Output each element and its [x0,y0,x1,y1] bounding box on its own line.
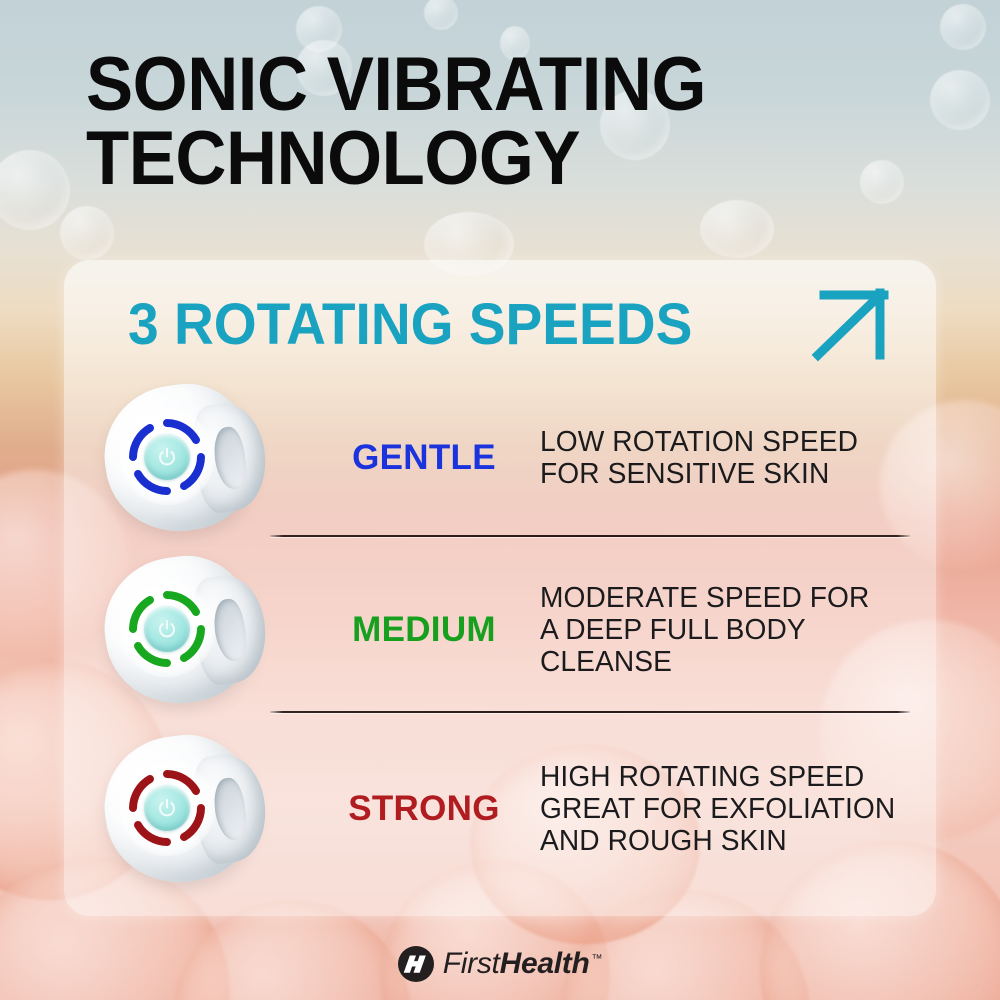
power-icon [156,618,178,640]
led-ring-assembly [119,760,215,856]
arrow-up-right-icon [804,285,892,363]
speed-description-medium: MODERATE SPEED FOR A DEEP FULL BODY CLEA… [540,582,924,678]
power-icon [156,797,178,819]
led-ring-assembly [119,409,215,505]
speed-row: STRONG HIGH ROTATING SPEED GREAT FOR EXF… [64,724,936,894]
speed-label-strong: STRONG [308,789,540,829]
speed-label-gentle: GENTLE [308,438,540,478]
power-button[interactable] [144,785,190,831]
speed-description-strong: HIGH ROTATING SPEED GREAT FOR EXFOLIATIO… [540,761,924,857]
power-button[interactable] [144,434,190,480]
speed-label-medium: MEDIUM [308,610,540,650]
trademark-symbol: ™ [592,953,603,965]
speed-row: GENTLE LOW ROTATION SPEED FOR SENSITIVE … [64,380,936,536]
speed-row: MEDIUM MODERATE SPEED FOR A DEEP FULL BO… [64,552,936,708]
power-icon [156,446,178,468]
massager-device-icon [101,734,271,884]
brand-logo: FirstHealth™ [0,946,1000,982]
page-title: SONIC VIBRATING TECHNOLOGY [86,48,849,196]
device-cell [64,555,308,705]
brand-name-second: Health [500,947,590,980]
row-divider [270,711,910,713]
led-ring-assembly [119,581,215,677]
card-header: 3 ROTATING SPEEDS [128,286,896,362]
brand-name-first: First [443,947,500,980]
power-button[interactable] [144,606,190,652]
speed-description-gentle: LOW ROTATION SPEED FOR SENSITIVE SKIN [540,426,924,490]
device-cell [64,734,308,884]
device-cell [64,383,308,533]
brand-name: FirstHealth™ [443,947,602,981]
row-divider [270,535,910,537]
speeds-card: 3 ROTATING SPEEDS [64,260,936,916]
card-title: 3 ROTATING SPEEDS [128,291,692,358]
firsthealth-monogram-icon [398,946,434,982]
massager-device-icon [101,555,271,705]
massager-device-icon [101,383,271,533]
